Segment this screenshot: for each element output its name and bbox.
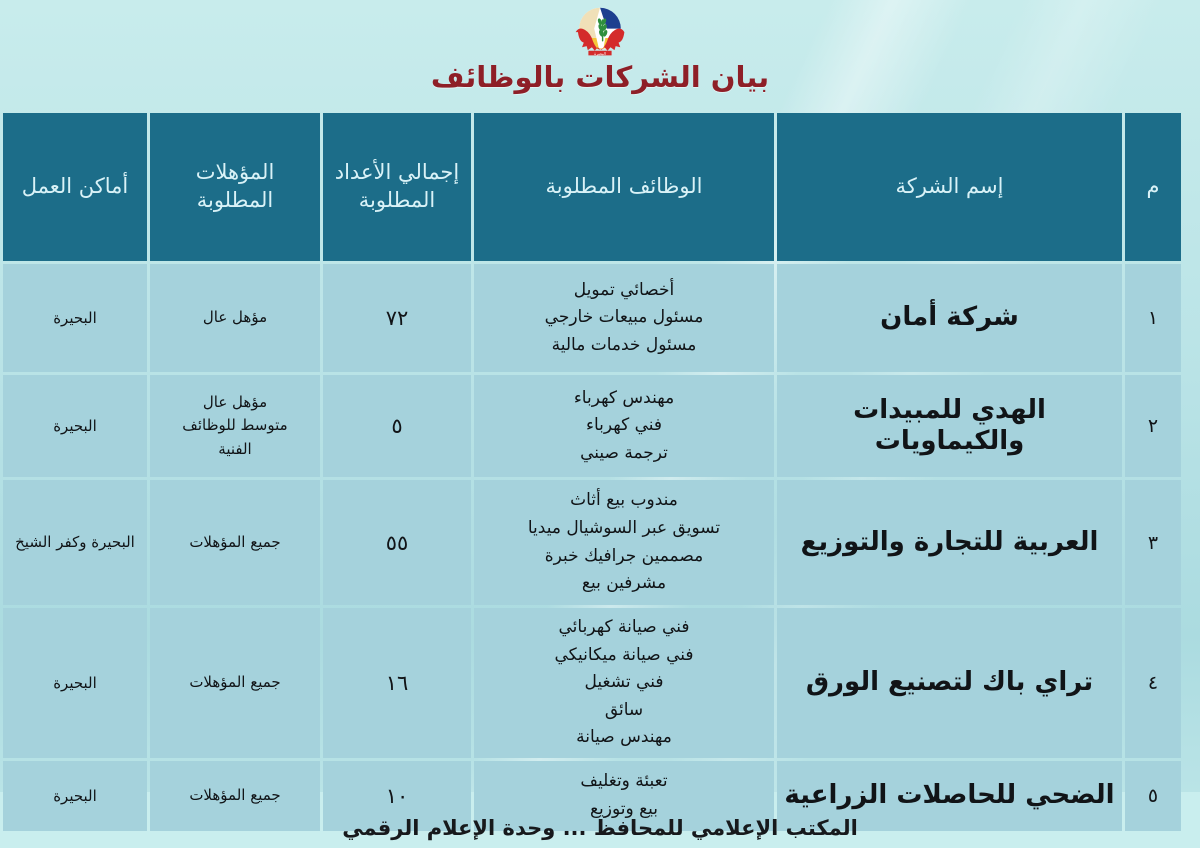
cell-qualifications: مؤهل عال	[150, 264, 320, 372]
cell-num: ٣	[1125, 480, 1181, 605]
table-row: ٣ العربية للتجارة والتوزيع مندوب بيع أثا…	[3, 480, 1181, 605]
cell-company: شركة أمان	[777, 264, 1122, 372]
workplaces-list: البحيرة	[8, 415, 142, 438]
list-item: مسئول خدمات مالية	[479, 332, 769, 360]
list-item: مؤهل عال	[155, 306, 315, 329]
page-title: بيان الشركات بالوظائف	[0, 63, 1200, 92]
cell-workplaces: البحيرة وكفر الشيخ	[3, 480, 147, 605]
svg-text:البحيرة: البحيرة	[594, 51, 606, 56]
table-header: م إسم الشركة الوظائف المطلوبة إجمالي الأ…	[3, 113, 1181, 261]
list-item: البحيرة	[8, 672, 142, 695]
list-item: تسويق عبر السوشيال ميديا	[479, 515, 769, 543]
jobs-list: فني صيانة كهربائيفني صيانة ميكانيكيفني ت…	[479, 614, 769, 752]
list-item: الفنية	[155, 438, 315, 461]
table-header-row: م إسم الشركة الوظائف المطلوبة إجمالي الأ…	[3, 113, 1181, 261]
table-row: ٢ الهدي للمبيدات والكيماويات مهندس كهربا…	[3, 375, 1181, 477]
jobs-list: أخصائي تمويلمسئول مبيعات خارجيمسئول خدما…	[479, 277, 769, 360]
list-item: مؤهل عال	[155, 391, 315, 414]
companies-jobs-table: م إسم الشركة الوظائف المطلوبة إجمالي الأ…	[0, 110, 1184, 834]
column-header-jobs: الوظائف المطلوبة	[474, 113, 774, 261]
cell-qualifications: مؤهل عالمتوسط للوظائفالفنية	[150, 375, 320, 477]
qualifications-list: جميع المؤهلات	[155, 531, 315, 554]
list-item: مسئول مبيعات خارجي	[479, 304, 769, 332]
jobs-list: مهندس كهرباءفني كهرباءترجمة صيني	[479, 385, 769, 468]
table-body: ١ شركة أمان أخصائي تمويلمسئول مبيعات خار…	[3, 264, 1181, 831]
cell-company: تراي باك لتصنيع الورق	[777, 608, 1122, 758]
list-item: مشرفين بيع	[479, 570, 769, 598]
cell-total: ٥	[323, 375, 471, 477]
cell-company: الهدي للمبيدات والكيماويات	[777, 375, 1122, 477]
cell-total: ٥٥	[323, 480, 471, 605]
qualifications-list: مؤهل عال	[155, 306, 315, 329]
cell-qualifications: جميع المؤهلات	[150, 608, 320, 758]
cell-qualifications: جميع المؤهلات	[150, 480, 320, 605]
cell-jobs: مندوب بيع أثاثتسويق عبر السوشيال ميديامص…	[474, 480, 774, 605]
list-item: ترجمة صيني	[479, 440, 769, 468]
column-header-place: أماكن العمل	[3, 113, 147, 261]
list-item: مصممين جرافيك خبرة	[479, 543, 769, 571]
list-item: مهندس كهرباء	[479, 385, 769, 413]
cell-jobs: مهندس كهرباءفني كهرباءترجمة صيني	[474, 375, 774, 477]
workplaces-list: البحيرة	[8, 785, 142, 808]
list-item: فني تشغيل	[479, 669, 769, 697]
cell-workplaces: البحيرة	[3, 375, 147, 477]
list-item: فني صيانة كهربائي	[479, 614, 769, 642]
jobs-list: مندوب بيع أثاثتسويق عبر السوشيال ميديامص…	[479, 487, 769, 597]
column-header-total: إجمالي الأعداد المطلوبة	[323, 113, 471, 261]
column-header-qual: المؤهلات المطلوبة	[150, 113, 320, 261]
workplaces-list: البحيرة	[8, 307, 142, 330]
list-item: مهندس صيانة	[479, 724, 769, 752]
table-row: ٤ تراي باك لتصنيع الورق فني صيانة كهربائ…	[3, 608, 1181, 758]
list-item: جميع المؤهلات	[155, 531, 315, 554]
cell-num: ٤	[1125, 608, 1181, 758]
list-item: البحيرة	[8, 307, 142, 330]
cell-company: العربية للتجارة والتوزيع	[777, 480, 1122, 605]
qualifications-list: جميع المؤهلات	[155, 784, 315, 807]
cell-workplaces: البحيرة	[3, 608, 147, 758]
list-item: مندوب بيع أثاث	[479, 487, 769, 515]
list-item: متوسط للوظائف	[155, 414, 315, 437]
column-header-company: إسم الشركة	[777, 113, 1122, 261]
cell-workplaces: البحيرة	[3, 264, 147, 372]
list-item: البحيرة	[8, 785, 142, 808]
list-item: البحيرة وكفر الشيخ	[8, 531, 142, 554]
workplaces-list: البحيرة	[8, 672, 142, 695]
list-item: أخصائي تمويل	[479, 277, 769, 305]
list-item: تعبئة وتغليف	[479, 768, 769, 796]
table-row: ١ شركة أمان أخصائي تمويلمسئول مبيعات خار…	[3, 264, 1181, 372]
cell-total: ١٦	[323, 608, 471, 758]
list-item: سائق	[479, 697, 769, 725]
qualifications-list: مؤهل عالمتوسط للوظائفالفنية	[155, 391, 315, 461]
cell-jobs: فني صيانة كهربائيفني صيانة ميكانيكيفني ت…	[474, 608, 774, 758]
list-item: جميع المؤهلات	[155, 671, 315, 694]
governorate-emblem-logo: البحيرة	[571, 2, 629, 60]
list-item: البحيرة	[8, 415, 142, 438]
page-footer: المكتب الإعلامي للمحافظ ... وحدة الإعلام…	[0, 816, 1200, 840]
qualifications-list: جميع المؤهلات	[155, 671, 315, 694]
column-header-num: م	[1125, 113, 1181, 261]
page-header: البحيرة بيان الشركات بالوظائف	[0, 0, 1200, 104]
cell-num: ١	[1125, 264, 1181, 372]
companies-jobs-table-container: م إسم الشركة الوظائف المطلوبة إجمالي الأ…	[16, 110, 1184, 834]
cell-total: ٧٢	[323, 264, 471, 372]
list-item: جميع المؤهلات	[155, 784, 315, 807]
cell-jobs: أخصائي تمويلمسئول مبيعات خارجيمسئول خدما…	[474, 264, 774, 372]
workplaces-list: البحيرة وكفر الشيخ	[8, 531, 142, 554]
cell-num: ٢	[1125, 375, 1181, 477]
list-item: فني كهرباء	[479, 412, 769, 440]
list-item: فني صيانة ميكانيكي	[479, 642, 769, 670]
